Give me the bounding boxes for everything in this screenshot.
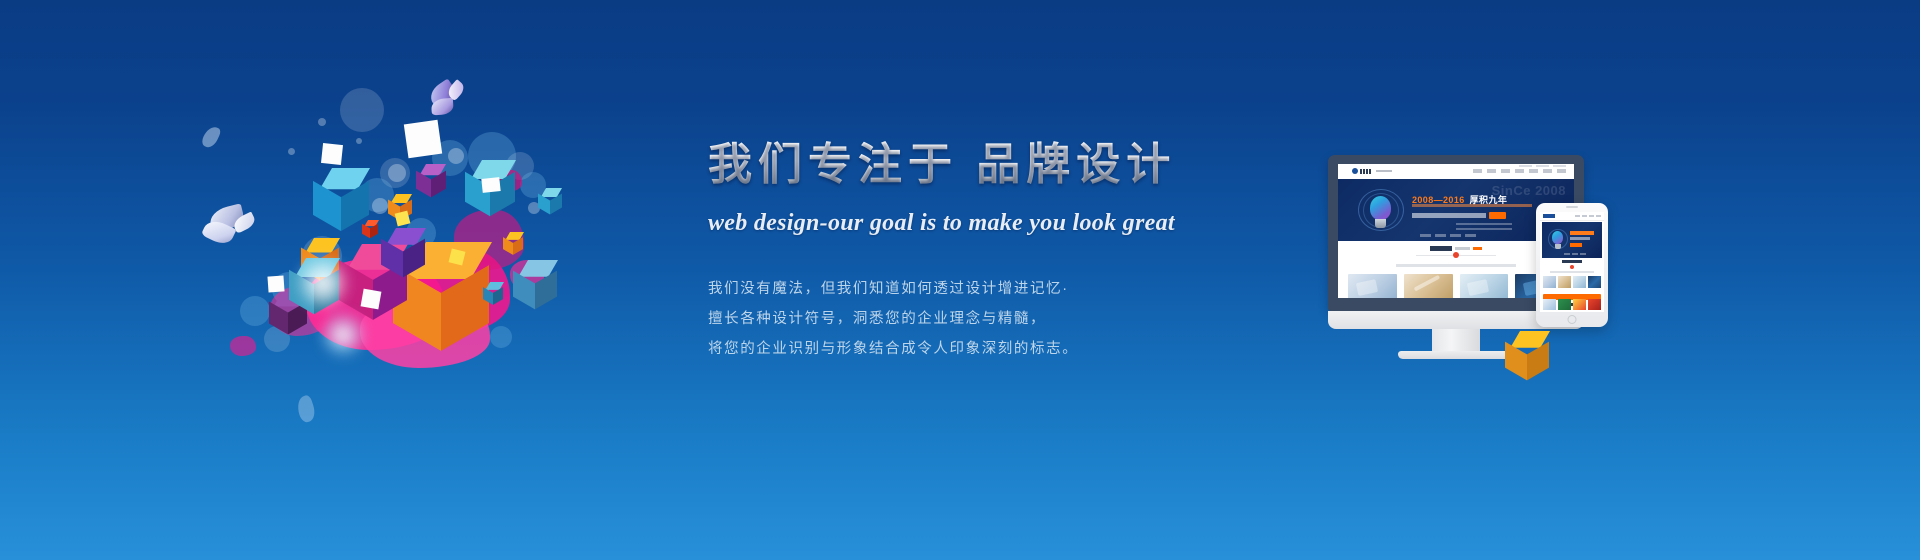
phone-navbar <box>1540 212 1604 221</box>
logo-mark-icon <box>1352 168 1358 174</box>
copy-block: 我们专注于 品牌设计 web design-our goal is to mak… <box>708 138 1308 370</box>
phone-bulb-glass <box>1552 231 1563 244</box>
page-title: 我们专注于 品牌设计 <box>708 138 1308 192</box>
description-line: 我们没有魔法，但我们知道如何透过设计增进记忆· <box>708 280 1308 299</box>
hero-banner: 我们专注于 品牌设计 web design-our goal is to mak… <box>0 0 1920 560</box>
thumbnail-shape <box>1413 275 1440 292</box>
phone-home-button[interactable] <box>1568 315 1577 324</box>
white-square <box>481 177 500 193</box>
phone-nav-links <box>1575 215 1601 217</box>
butterfly-icon <box>199 204 265 258</box>
phone-section-description <box>1550 271 1594 273</box>
thumbnail-shape <box>1467 279 1490 296</box>
light-glow <box>296 256 350 310</box>
paint-splatter <box>230 336 256 356</box>
white-square <box>321 143 343 165</box>
light-glow <box>320 312 366 358</box>
bokeh-circle <box>356 138 362 144</box>
phone-bottom-grid <box>1543 299 1601 310</box>
phone-thumbnail-item[interactable] <box>1558 276 1571 288</box>
phone-bulb-cap <box>1555 244 1561 249</box>
hero-cta-button[interactable] <box>1489 212 1506 219</box>
inner-site-topbar <box>1519 165 1566 167</box>
inner-site-navbar <box>1338 164 1574 180</box>
white-square <box>404 120 442 158</box>
section-title-en <box>1455 247 1470 250</box>
phone-thumbnail-grid <box>1543 276 1601 288</box>
butterfly-icon <box>423 76 477 126</box>
phone-lightbulb-icon <box>1548 229 1566 251</box>
inner-site-nav-links <box>1473 169 1566 173</box>
bokeh-circle <box>372 198 388 214</box>
bokeh-circle <box>340 88 384 132</box>
phone-logo <box>1543 214 1555 218</box>
section-marker-dot <box>1453 252 1459 258</box>
phone-slider-dots[interactable] <box>1564 253 1586 255</box>
lightbulb-network-icon <box>1358 189 1402 237</box>
phone-bottom-item[interactable] <box>1573 299 1586 310</box>
bokeh-circle <box>490 326 512 348</box>
bokeh-circle <box>388 164 406 182</box>
subtitle: web design-our goal is to make you look … <box>708 208 1308 238</box>
phone-hero-button[interactable] <box>1570 243 1582 247</box>
bokeh-circle <box>240 296 270 326</box>
phone-bottom-item[interactable] <box>1558 299 1571 310</box>
section-title-accent <box>1473 247 1482 250</box>
thumbnail-grid <box>1348 274 1564 298</box>
hero-cta-text <box>1412 213 1486 218</box>
description-paragraph: 我们没有魔法，但我们知道如何透过设计增进记忆· 擅长各种设计符号，洞悉您的企业理… <box>708 280 1308 359</box>
bokeh-circle <box>448 148 464 164</box>
phone-speaker <box>1566 206 1578 208</box>
monitor-stand-neck <box>1432 329 1480 353</box>
section-title <box>1430 246 1482 251</box>
description-line: 擅长各种设计符号，洞悉您的企业理念与精髓， <box>708 310 1308 329</box>
section-description <box>1396 264 1516 267</box>
phone-bottom-item[interactable] <box>1588 299 1601 310</box>
petal-shape <box>200 124 222 150</box>
phone-thumbnail-item[interactable] <box>1543 276 1556 288</box>
section-title-cn <box>1430 246 1452 251</box>
phone-section-dot <box>1570 265 1574 269</box>
hero-subtitle-bar <box>1412 204 1532 207</box>
inner-site-logo <box>1352 168 1392 174</box>
phone-thumbnail-item[interactable] <box>1588 276 1601 288</box>
thumbnail-item[interactable] <box>1404 274 1453 298</box>
artwork-3d-cubes-splash <box>210 60 630 440</box>
phone-thumbnail-item[interactable] <box>1573 276 1586 288</box>
bokeh-circle <box>288 148 295 155</box>
thumbnail-item[interactable] <box>1460 274 1509 298</box>
bulb-glass <box>1370 196 1391 220</box>
bulb-cap <box>1375 219 1386 228</box>
hero-slider-dots[interactable] <box>1420 234 1476 237</box>
description-line: 将您的企业识别与形象结合成令人印象深刻的标志。 <box>708 340 1308 359</box>
white-square <box>267 275 284 292</box>
phone-hero-subtitle <box>1570 237 1590 240</box>
logo-tagline <box>1376 170 1392 172</box>
device-mockups: SinCe 2008 2008—2016厚积九年 <box>1320 155 1660 395</box>
phone-screen <box>1540 212 1604 312</box>
phone-section-title <box>1562 260 1582 263</box>
monitor-stand-base <box>1398 351 1514 359</box>
phone-hero-title <box>1570 231 1594 235</box>
petal-shape <box>294 394 317 424</box>
mobile-device-mockup <box>1536 203 1608 327</box>
white-square <box>361 289 382 310</box>
phone-hero <box>1542 222 1602 258</box>
hero-cta-row <box>1412 212 1506 219</box>
thumbnail-item[interactable] <box>1348 274 1397 298</box>
thumbnail-shape <box>1356 279 1379 296</box>
phone-bottom-item[interactable] <box>1543 299 1556 310</box>
hero-meta <box>1456 223 1512 233</box>
logo-wordmark <box>1360 169 1371 174</box>
bokeh-circle <box>318 118 326 126</box>
